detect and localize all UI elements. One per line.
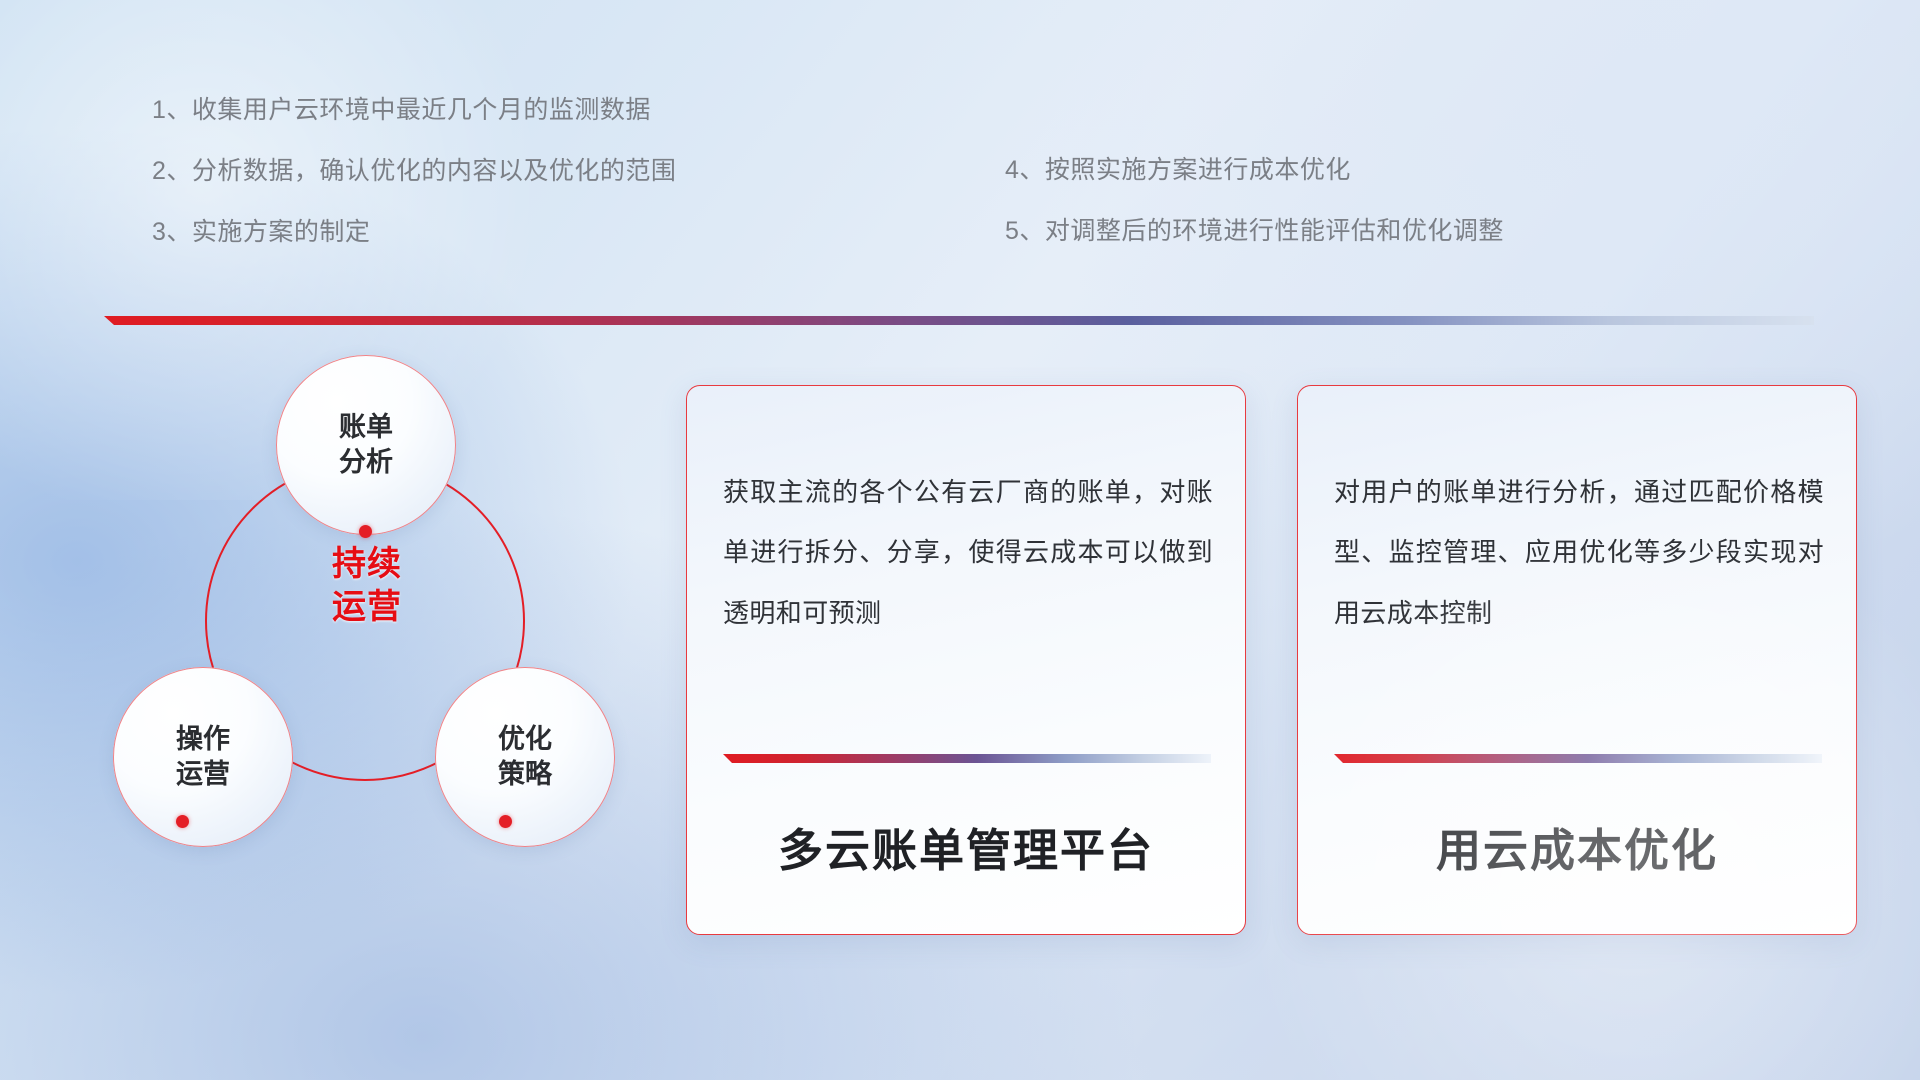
continuous-operation-diagram: 账单 分析 操作 运营 优化 策略 持续 运营 — [95, 355, 635, 935]
node-label-line2: 策略 — [498, 757, 552, 792]
card-body-text: 对用户的账单进行分析，通过匹配价格模型、监控管理、应用优化等多少段实现对用云成本… — [1334, 462, 1824, 643]
section-divider — [104, 316, 1814, 325]
node-label-line1: 操作 — [176, 722, 230, 757]
card-title: 用云成本优化 — [1298, 814, 1856, 879]
connector-dot-top — [359, 525, 372, 538]
step-item-3: 3、实施方案的制定 — [152, 220, 676, 245]
node-label-line1: 优化 — [498, 722, 552, 757]
diagram-center-label: 持续 运营 — [277, 543, 457, 628]
step-item-4: 4、按照实施方案进行成本优化 — [1005, 158, 1504, 183]
card-accent-rule — [723, 754, 1211, 763]
slide-canvas: 1、收集用户云环境中最近几个月的监测数据 2、分析数据，确认优化的内容以及优化的… — [0, 0, 1920, 1080]
step-item-2: 2、分析数据，确认优化的内容以及优化的范围 — [152, 159, 676, 184]
node-label-line2: 分析 — [339, 445, 393, 480]
diagram-node-strategy[interactable]: 优化 策略 — [435, 667, 615, 847]
connector-dot-left — [176, 815, 189, 828]
step-item-1: 1、收集用户云环境中最近几个月的监测数据 — [152, 98, 676, 123]
steps-list-left: 1、收集用户云环境中最近几个月的监测数据 2、分析数据，确认优化的内容以及优化的… — [152, 98, 676, 245]
card-body-text: 获取主流的各个公有云厂商的账单，对账单进行拆分、分享，使得云成本可以做到透明和可… — [723, 462, 1213, 643]
diagram-node-operation[interactable]: 操作 运营 — [113, 667, 293, 847]
connector-dot-right — [499, 815, 512, 828]
node-label-line2: 运营 — [176, 757, 230, 792]
center-label-line2: 运营 — [277, 586, 457, 629]
diagram-node-bill-analysis[interactable]: 账单 分析 — [276, 355, 456, 535]
step-item-5: 5、对调整后的环境进行性能评估和优化调整 — [1005, 219, 1504, 244]
card-accent-rule — [1334, 754, 1822, 763]
card-title: 多云账单管理平台 — [687, 814, 1245, 879]
feature-card-multi-cloud-bill-platform[interactable]: 获取主流的各个公有云厂商的账单，对账单进行拆分、分享，使得云成本可以做到透明和可… — [686, 385, 1246, 935]
feature-card-cloud-cost-optimization[interactable]: 对用户的账单进行分析，通过匹配价格模型、监控管理、应用优化等多少段实现对用云成本… — [1297, 385, 1857, 935]
steps-list-right: 4、按照实施方案进行成本优化 5、对调整后的环境进行性能评估和优化调整 — [1005, 158, 1504, 244]
center-label-line1: 持续 — [277, 543, 457, 586]
node-label-line1: 账单 — [339, 410, 393, 445]
